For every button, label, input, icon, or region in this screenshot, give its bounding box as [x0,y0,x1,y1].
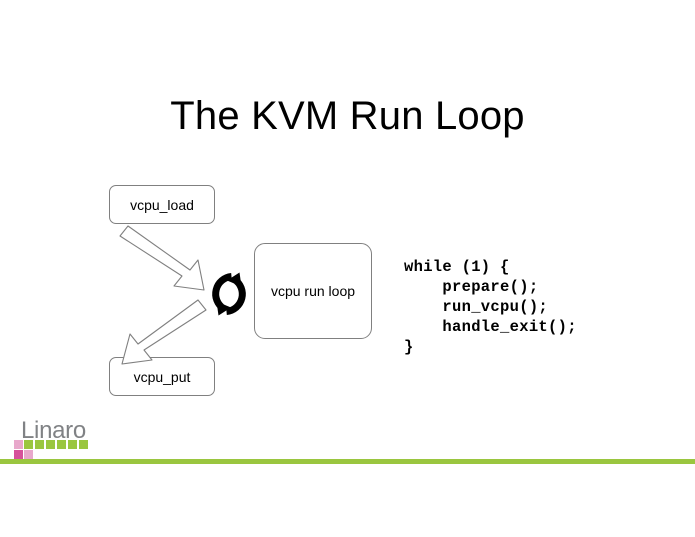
diagram-node-label: vcpu_load [130,197,194,213]
logo-square-pink [14,450,23,459]
code-block: while (1) { prepare(); run_vcpu(); handl… [404,257,577,357]
linaro-logo: Linaro [14,419,100,461]
logo-square-green [68,440,77,449]
diagram-node-vcpu-run-loop: vcpu run loop [254,243,372,339]
logo-square-pink [14,440,23,449]
slide-canvas: The KVM Run Loop vcpu_load vcpu run loop… [0,0,695,537]
footer-rule [0,459,695,464]
logo-square-green [79,440,88,449]
diagram-arrow-loop-to-put [118,300,208,372]
logo-square-pink [24,450,33,459]
kvm-run-loop-diagram: vcpu_load vcpu run loop vcpu_put [0,0,695,537]
diagram-node-label: vcpu run loop [271,283,355,299]
logo-square-green [24,440,33,449]
diagram-arrow-load-to-loop [118,224,208,296]
loop-cycle-icon [206,268,252,320]
diagram-node-vcpu-load: vcpu_load [109,185,215,224]
logo-square-green [46,440,55,449]
logo-square-green [35,440,44,449]
logo-square-green [57,440,66,449]
